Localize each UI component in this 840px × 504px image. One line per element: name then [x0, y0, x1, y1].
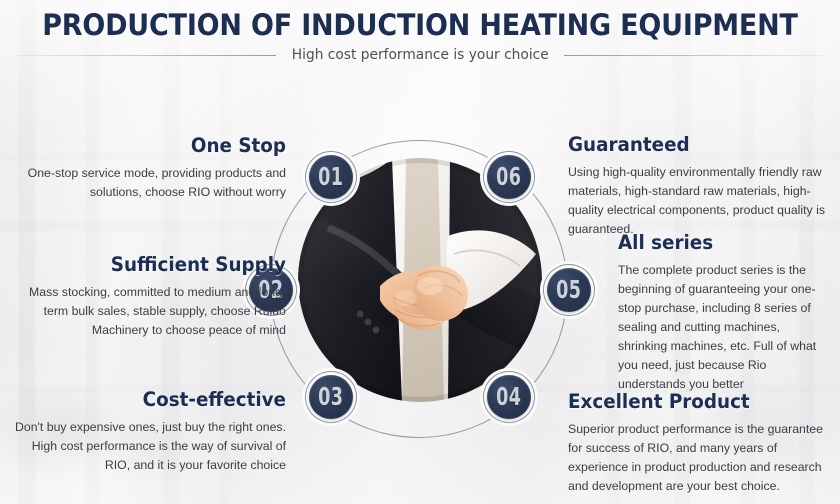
- page-subtitle: High cost performance is your choice: [292, 47, 549, 63]
- node-number-01: 01: [318, 163, 343, 191]
- node-ring-01: 01: [305, 151, 357, 203]
- subtitle-rule-left: [16, 55, 276, 56]
- feature-body-sufficient-supply: Mass stocking, committed to medium and l…: [10, 283, 286, 340]
- node-number-03: 03: [318, 383, 343, 411]
- feature-body-excellent-product: Superior product performance is the guar…: [568, 420, 836, 496]
- node-number-06: 06: [496, 163, 521, 191]
- node-ring-06: 06: [483, 151, 535, 203]
- node-number-04: 04: [496, 383, 521, 411]
- feature-node-05[interactable]: 05: [540, 261, 598, 319]
- feature-block-sufficient-supply: Sufficient Supply Mass stocking, committ…: [10, 253, 286, 340]
- node-number-05: 05: [556, 276, 581, 304]
- subtitle-rule-right: [564, 55, 824, 56]
- feature-heading-cost-effective: Cost-effective: [27, 388, 286, 411]
- page-title: PRODUCTION OF INDUCTION HEATING EQUIPMEN…: [29, 0, 810, 42]
- node-disc-04: 04: [487, 375, 531, 419]
- feature-block-one-stop: One Stop One-stop service mode, providin…: [18, 134, 286, 202]
- node-ring-05: 05: [543, 264, 595, 316]
- node-ring-03: 03: [305, 371, 357, 423]
- feature-heading-all-series: All series: [618, 231, 819, 254]
- feature-node-04[interactable]: 04: [480, 368, 538, 426]
- feature-node-03[interactable]: 03: [302, 368, 360, 426]
- page-header: PRODUCTION OF INDUCTION HEATING EQUIPMEN…: [0, 0, 840, 62]
- feature-heading-guaranteed: Guaranteed: [568, 133, 816, 156]
- node-disc-01: 01: [309, 155, 353, 199]
- feature-body-one-stop: One-stop service mode, providing product…: [18, 164, 286, 202]
- feature-block-cost-effective: Cost-effective Don't buy expensive ones,…: [10, 388, 286, 475]
- feature-block-guaranteed: Guaranteed Using high-quality environmen…: [568, 133, 832, 239]
- feature-heading-sufficient-supply: Sufficient Supply: [27, 253, 286, 276]
- feature-body-guaranteed: Using high-quality environmentally frien…: [568, 163, 832, 239]
- feature-body-cost-effective: Don't buy expensive ones, just buy the r…: [10, 418, 286, 475]
- feature-block-excellent-product: Excellent Product Superior product perfo…: [568, 390, 836, 496]
- feature-wheel: 01 02 03 04: [260, 130, 580, 450]
- infographic-page: PRODUCTION OF INDUCTION HEATING EQUIPMEN…: [0, 0, 840, 504]
- feature-block-all-series: All series The complete product series i…: [618, 231, 832, 394]
- feature-body-all-series: The complete product series is the begin…: [618, 261, 832, 394]
- node-disc-03: 03: [309, 375, 353, 419]
- node-ring-04: 04: [483, 371, 535, 423]
- feature-heading-one-stop: One Stop: [34, 134, 286, 157]
- feature-node-06[interactable]: 06: [480, 148, 538, 206]
- feature-node-01[interactable]: 01: [302, 148, 360, 206]
- subtitle-row: High cost performance is your choice: [0, 47, 840, 63]
- node-disc-06: 06: [487, 155, 531, 199]
- feature-heading-excellent-product: Excellent Product: [568, 390, 820, 413]
- node-disc-05: 05: [547, 268, 591, 312]
